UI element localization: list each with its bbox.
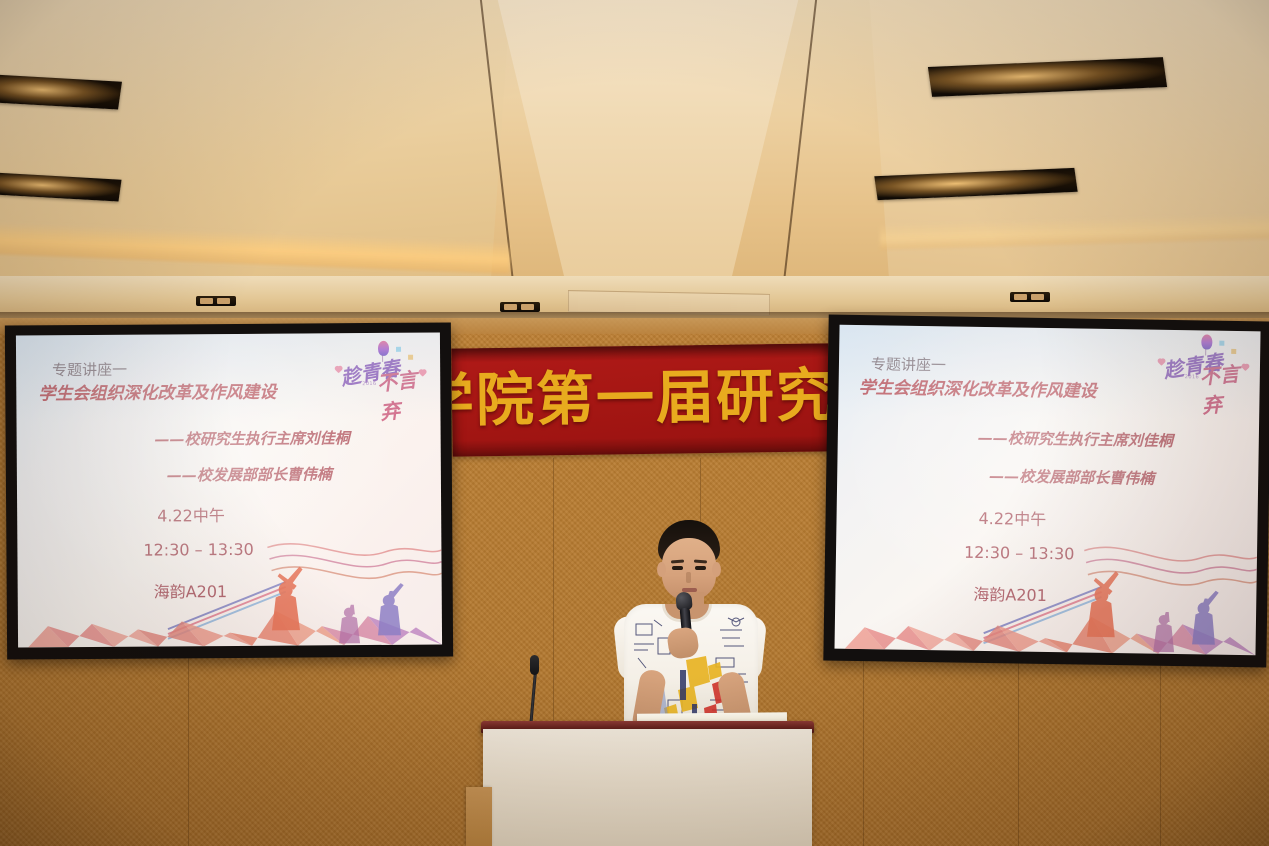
presenter-nose [686,572,691,583]
ceiling [0,0,1269,300]
slide-speaker-1: ——校研究生执行主席刘佳桐 [155,427,350,449]
projection-screen-right: 专题讲座一 学生会组织深化改革及作风建设 ——校研究生执行主席刘佳桐 ——校发展… [823,315,1269,668]
banner-text: 学院第一届研究生 [451,357,829,439]
slide-date: 4.22中午 [157,502,225,526]
slide-right: 专题讲座一 学生会组织深化改革及作风建设 ——校研究生执行主席刘佳桐 ——校发展… [834,325,1260,656]
lecture-hall-photo: 学院第一届研究生 专题讲座一 学生会组织深化改革及作风建设 ——校研究生执行主席… [0,0,1269,846]
side-sign-card [466,787,492,846]
slide-title: 学生会组织深化改革及作风建设 [38,378,276,405]
podium: XD 厦門大學信息学院 （国家示范性软件学院） SCHOOL OF INFORM… [483,729,812,846]
presenter-eye-left [672,566,683,570]
slide-speaker-2: ——校发展部部长曹伟楠 [167,463,332,485]
slide-crowd-graphic [834,539,1257,656]
presenter-ear-right [712,562,721,577]
slide-speaker-1: ——校研究生执行主席刘佳桐 [978,427,1173,451]
ceiling-center-beam [468,0,828,296]
slide-left: 专题讲座一 学生会组织深化改革及作风建设 ——校研究生执行主席刘佳桐 ——校发展… [16,333,442,648]
presenter-eye-right [695,566,706,570]
presenter-ear-left [657,562,666,577]
calligraphy-year: 2016 [362,381,376,387]
projection-screen-left: 专题讲座一 学生会组织深化改革及作风建设 ——校研究生执行主席刘佳桐 ——校发展… [5,322,453,659]
slide-crowd-graphic [17,538,442,647]
ceiling-plane-right [870,0,1269,300]
slide-title: 学生会组织深化改革及作风建设 [858,373,1096,402]
soffit-downlight-left [196,296,236,306]
slide-speaker-2: ——校发展部部长曹伟楠 [989,465,1154,489]
slide-date: 4.22中午 [978,505,1046,530]
calligraphy-year: 2016 [1185,374,1199,380]
soffit-downlight-right [1010,292,1050,302]
slide-calligraphy-logo: 趁青春 不言弃 2016 [334,341,430,398]
screen-surface-left: 专题讲座一 学生会组织深化改革及作风建设 ——校研究生执行主席刘佳桐 ——校发展… [16,333,442,648]
soffit-downlight-center [500,302,540,312]
slide-subtitle: 专题讲座一 [52,359,127,381]
event-banner: 学院第一届研究生 [451,343,829,456]
slide-subtitle: 专题讲座一 [871,353,946,375]
slide-calligraphy-logo: 趁青春 不言弃 2016 [1157,334,1254,392]
presenter [600,520,780,735]
screen-surface-right: 专题讲座一 学生会组织深化改革及作风建设 ——校研究生执行主席刘佳桐 ——校发展… [834,325,1260,656]
